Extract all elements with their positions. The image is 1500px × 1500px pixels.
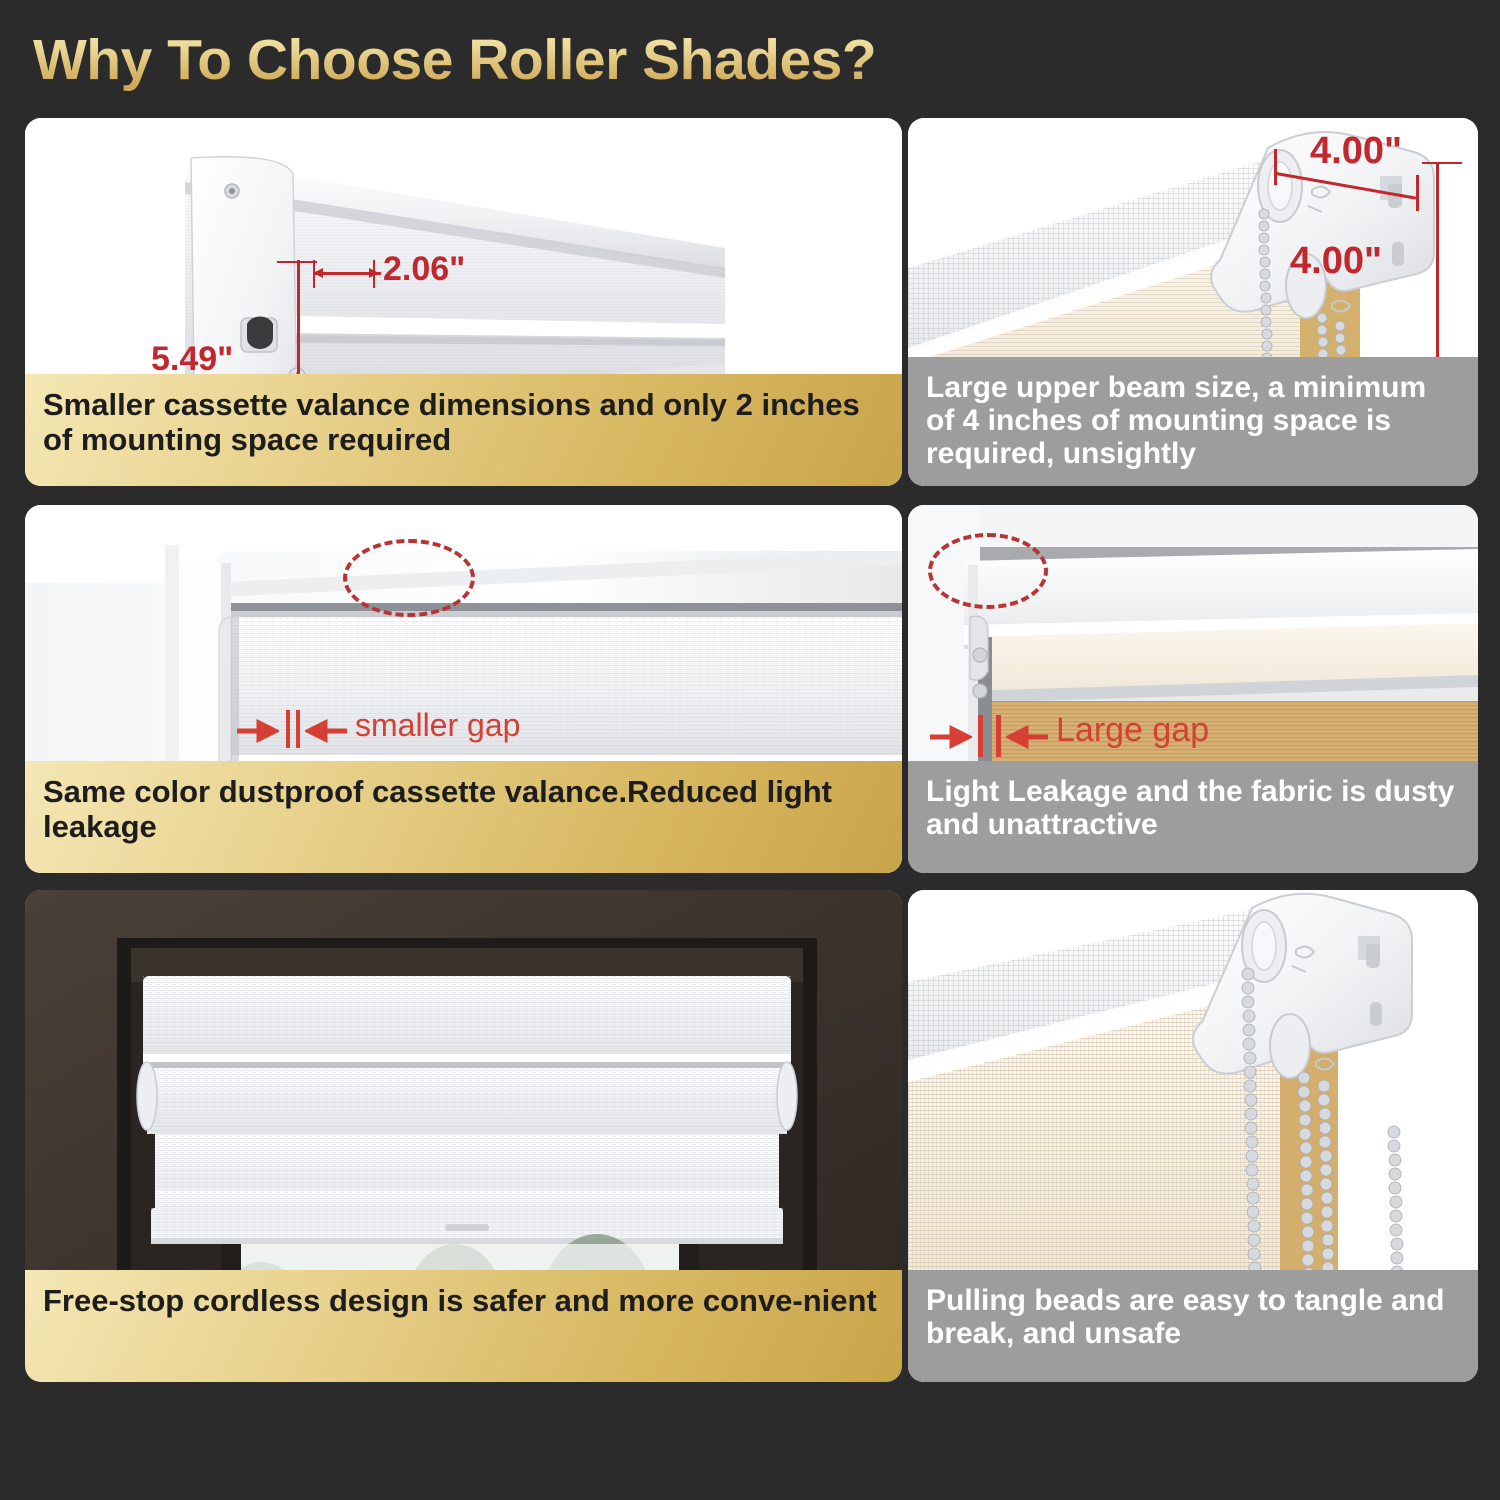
caption-free-stop-cordless: Free-stop cordless design is safer and m…	[25, 1270, 902, 1382]
panel-large-upper-beam: 4.00" 4.00" Large upper beam size, a min…	[908, 118, 1478, 486]
arrow-right-icon	[235, 717, 279, 745]
caption-dustproof-cassette: Same color dustproof cassette valance.Re…	[25, 761, 902, 873]
page-title: Why To Choose Roller Shades?	[33, 20, 1133, 100]
panel-pulling-beads: Pulling beads are easy to tangle and bre…	[908, 890, 1478, 1382]
annotation-dashed-ellipse	[928, 533, 1048, 609]
gap-label-smaller: smaller gap	[355, 707, 520, 744]
gap-label-large: Large gap	[1056, 711, 1209, 750]
caption-pulling-beads: Pulling beads are easy to tangle and bre…	[908, 1270, 1478, 1382]
dimension-label-beam-height: 4.00"	[1290, 240, 1382, 283]
caption-cassette-dimensions: Smaller cassette valance dimensions and …	[25, 374, 902, 486]
panel-light-leakage: Large gap Light Leakage and the fabric i…	[908, 505, 1478, 873]
annotation-dashed-ellipse	[343, 539, 475, 617]
arrow-left-icon	[305, 717, 349, 745]
dimension-label-width: 2.06"	[383, 250, 465, 289]
arrow-left-icon	[1006, 723, 1050, 751]
arrow-left-icon	[311, 265, 327, 281]
panel-dustproof-cassette: smaller gap Same color dustproof cassett…	[25, 505, 902, 873]
arrow-right-icon	[365, 265, 381, 281]
header: Why To Choose Roller Shades?	[33, 20, 1133, 100]
arrow-right-icon	[928, 723, 972, 751]
panel-free-stop-cordless: Free-stop cordless design is safer and m…	[25, 890, 902, 1382]
panel-cassette-dimensions: 2.06" 5.49" Smaller cassette valance dim…	[25, 118, 902, 486]
caption-large-upper-beam: Large upper beam size, a minimum of 4 in…	[908, 357, 1478, 486]
caption-light-leakage: Light Leakage and the fabric is dusty an…	[908, 761, 1478, 873]
dimension-label-beam-width: 4.00"	[1310, 130, 1402, 173]
